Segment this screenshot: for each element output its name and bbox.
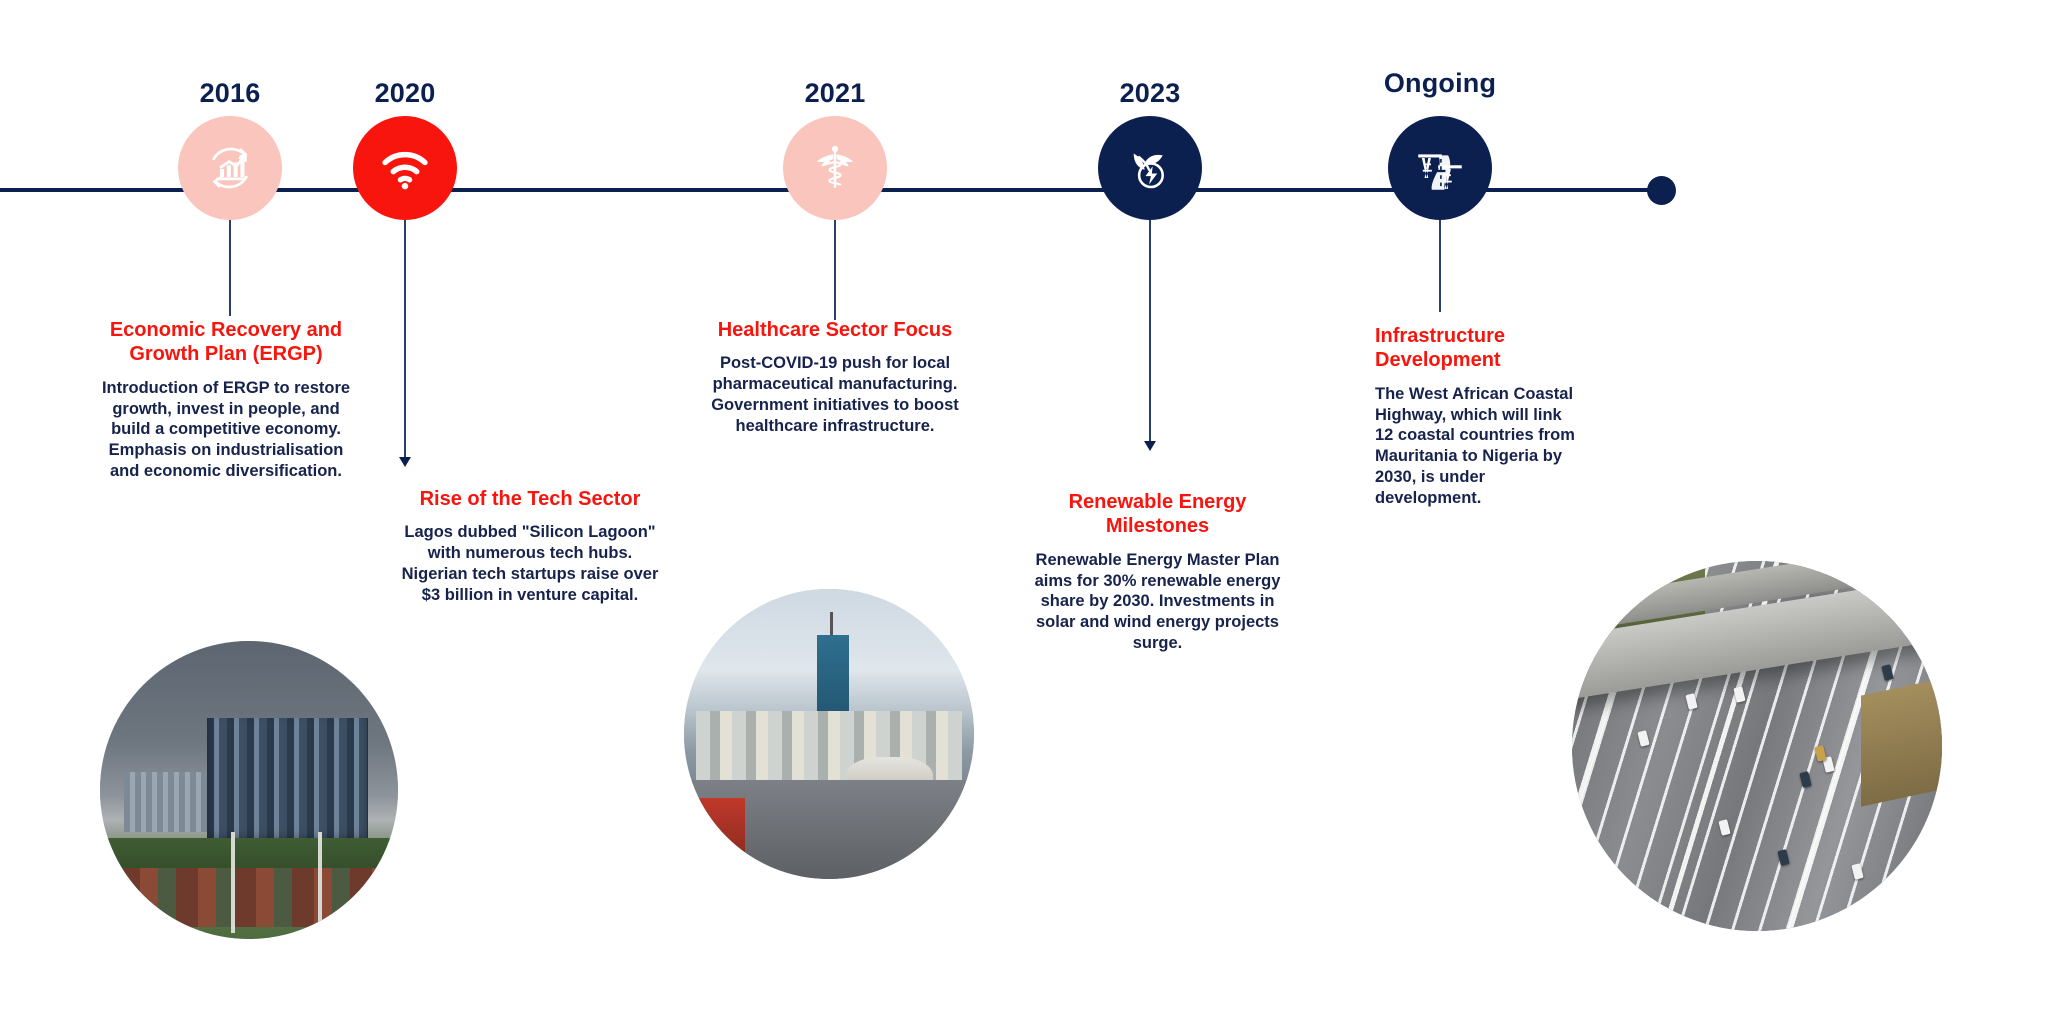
highway-bridge-icon: [1411, 139, 1469, 197]
timeline-infographic: 2016 Economic Recovery and Growth Plan (…: [0, 0, 2048, 1024]
milestone-text-ongoing: Infrastructure Development The West Afri…: [1375, 324, 1580, 508]
cbn-building-photo: [100, 641, 398, 939]
milestone-body-ongoing: The West African Coastal Highway, which …: [1375, 384, 1580, 509]
milestone-year-2023: 2023: [1120, 78, 1181, 109]
milestone-body-2016: Introduction of ERGP to restore growth, …: [95, 378, 357, 482]
milestone-marker-2020[interactable]: [353, 116, 457, 220]
milestone-body-2023: Renewable Energy Master Plan aims for 30…: [1025, 550, 1290, 654]
connector-stem-2021: [834, 220, 836, 320]
connector-stem-2023: [1149, 220, 1151, 442]
lagos-waterfront-photo: [684, 589, 974, 879]
milestone-title-2016: Economic Recovery and Growth Plan (ERGP): [95, 318, 357, 367]
milestone-title-ongoing: Infrastructure Development: [1375, 324, 1580, 373]
milestone-year-2020: 2020: [375, 78, 436, 109]
milestone-text-2023: Renewable Energy Milestones Renewable En…: [1025, 490, 1290, 654]
milestone-text-2020: Rise of the Tech Sector Lagos dubbed "Si…: [400, 487, 660, 606]
milestone-marker-2016[interactable]: [178, 116, 282, 220]
caduceus-medical-icon: [806, 139, 864, 197]
milestone-title-2020: Rise of the Tech Sector: [400, 487, 660, 511]
milestone-text-2016: Economic Recovery and Growth Plan (ERGP)…: [95, 318, 357, 482]
milestone-year-2016: 2016: [200, 78, 261, 109]
milestone-body-2021: Post-COVID-19 push for local pharmaceuti…: [700, 353, 970, 436]
milestone-text-2021: Healthcare Sector Focus Post-COVID-19 pu…: [700, 318, 970, 437]
highway-interchange-photo: [1572, 561, 1942, 931]
milestone-year-2021: 2021: [805, 78, 866, 109]
milestone-marker-2021[interactable]: [783, 116, 887, 220]
milestone-year-ongoing: Ongoing: [1384, 68, 1496, 99]
connector-stem-2016: [229, 220, 231, 316]
timeline-end-dot: [1647, 176, 1676, 205]
growth-chart-icon: [201, 139, 259, 197]
milestone-marker-ongoing[interactable]: [1388, 116, 1492, 220]
milestone-marker-2023[interactable]: [1098, 116, 1202, 220]
milestone-title-2023: Renewable Energy Milestones: [1025, 490, 1290, 539]
milestone-body-2020: Lagos dubbed "Silicon Lagoon" with numer…: [400, 522, 660, 605]
connector-stem-ongoing: [1439, 220, 1441, 312]
leaf-energy-icon: [1121, 139, 1179, 197]
connector-stem-2020: [404, 220, 406, 458]
milestone-title-2021: Healthcare Sector Focus: [700, 318, 970, 342]
wifi-icon: [376, 139, 434, 197]
